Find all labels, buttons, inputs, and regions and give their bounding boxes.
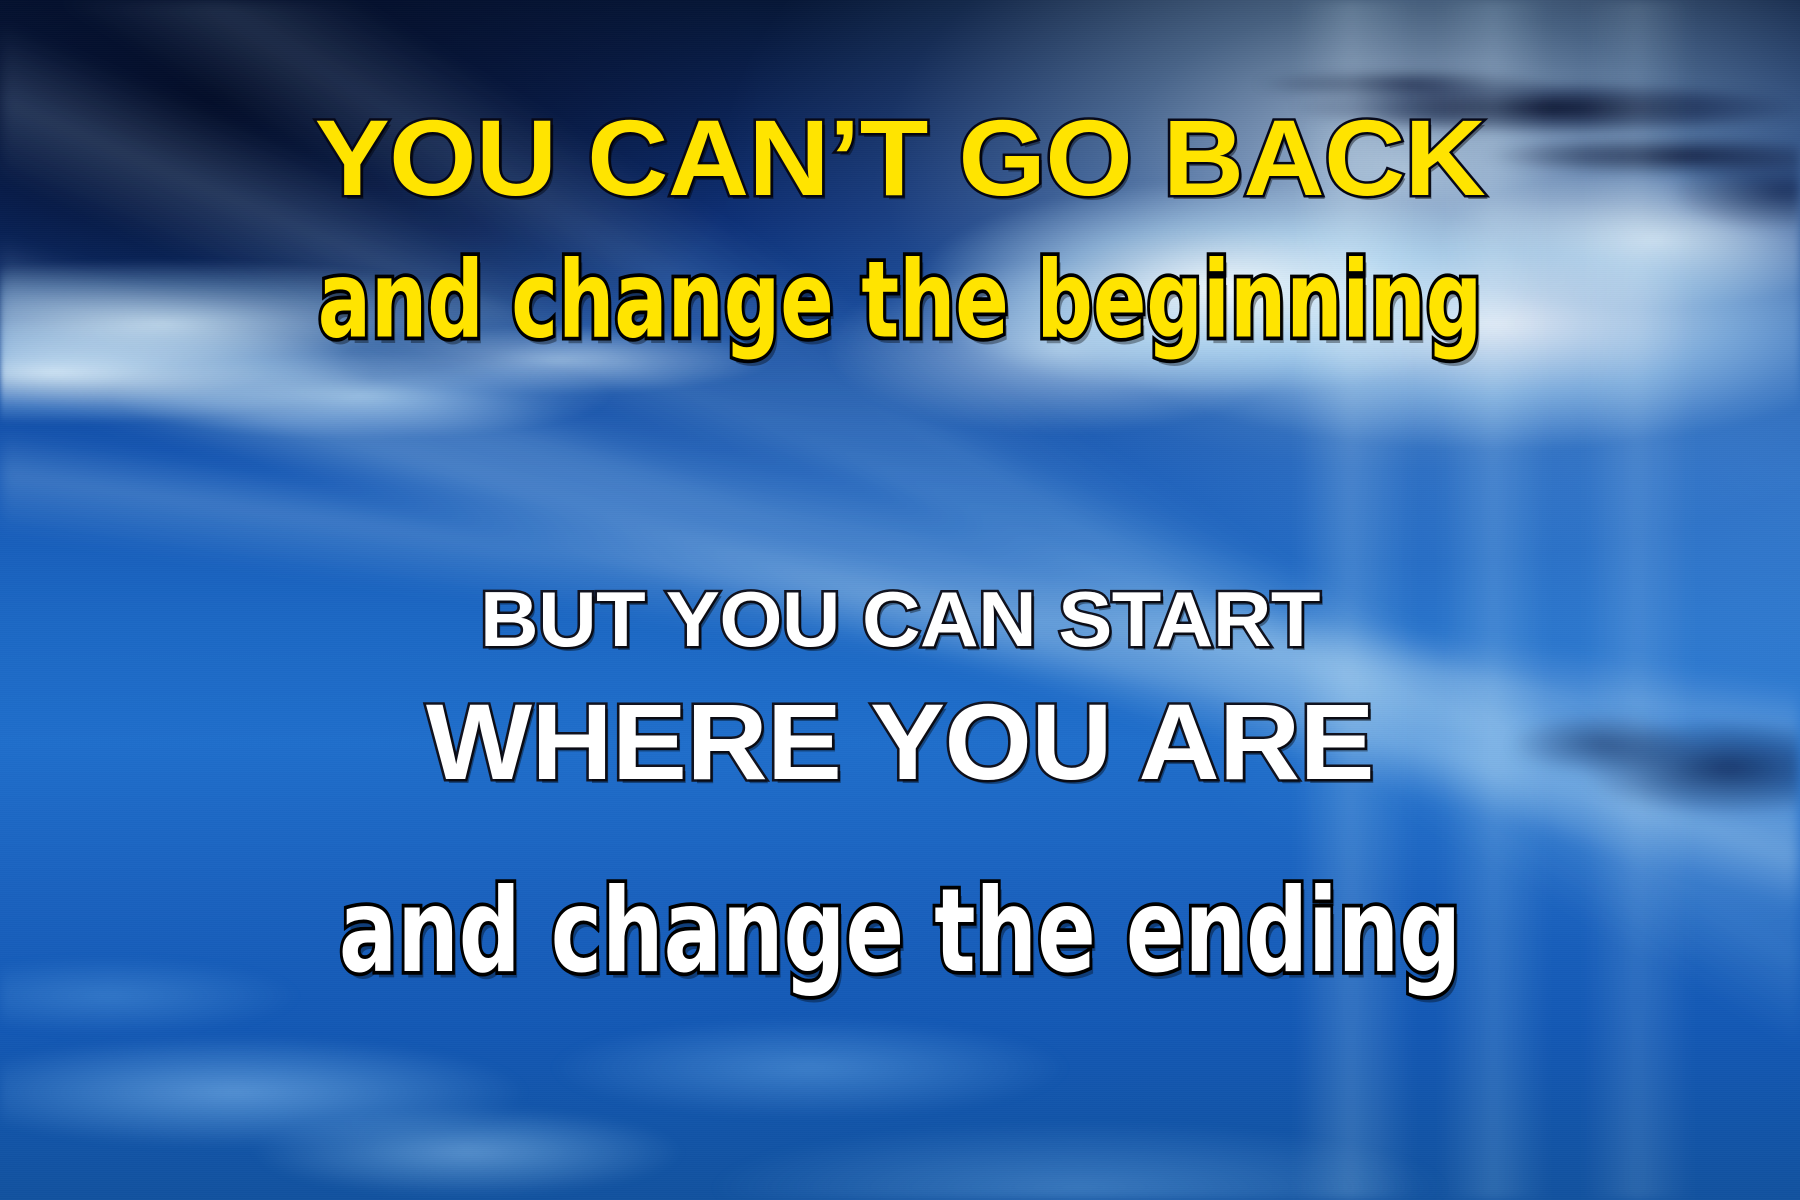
quote-line-4: WHERE YOU ARE xyxy=(0,688,1800,796)
quote-line-3: BUT YOU CAN START xyxy=(0,580,1800,658)
quote-line-1: YOU CAN’T GO BACK xyxy=(0,104,1800,212)
quote-line-5: and change the ending xyxy=(54,874,1746,990)
quote-text-layer: YOU CAN’T GO BACK and change the beginni… xyxy=(0,0,1800,1200)
quote-poster: YOU CAN’T GO BACK and change the beginni… xyxy=(0,0,1800,1200)
quote-line-2: and change the beginning xyxy=(54,247,1746,353)
